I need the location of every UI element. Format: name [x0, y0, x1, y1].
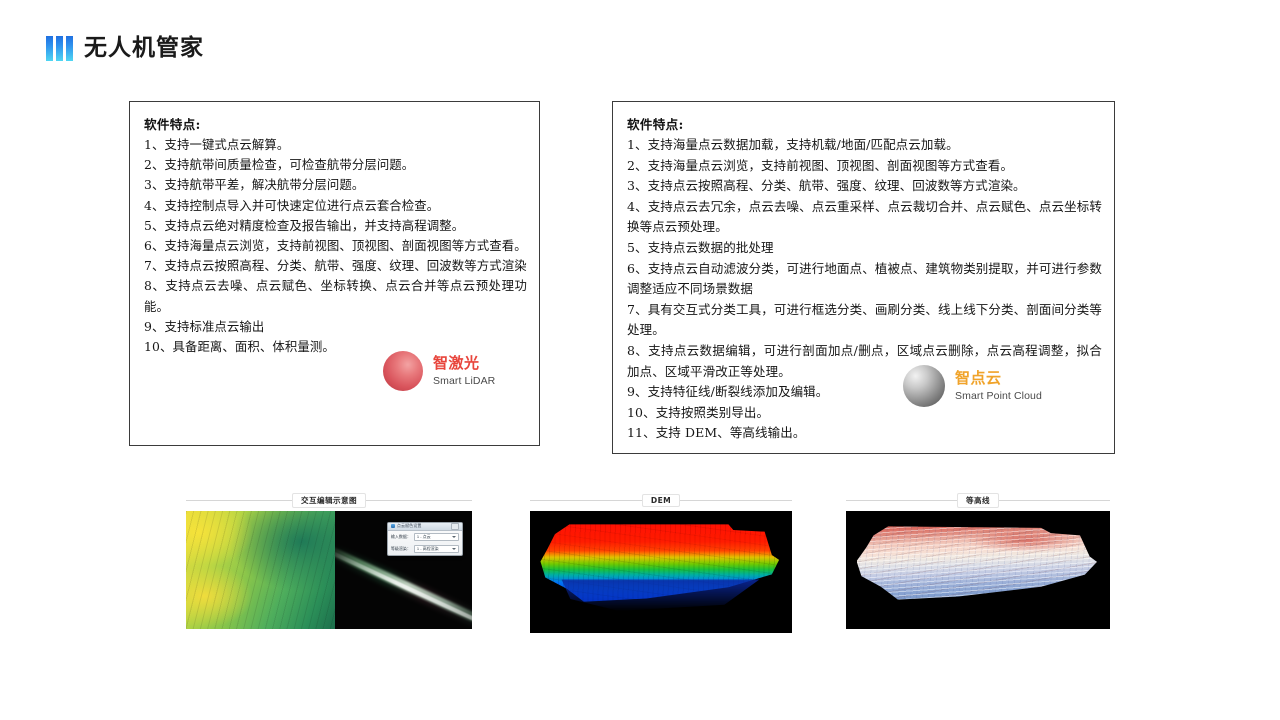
app-brand: 无人机管家	[46, 36, 204, 61]
caption-label: 等高线	[957, 493, 999, 508]
dialog-row: 输入数据： 1 - 点云	[388, 531, 462, 543]
dem-render	[530, 511, 792, 633]
dialog-title: 点云赋色设置	[397, 523, 449, 529]
figure-image	[846, 511, 1110, 629]
sublogo-smart-point-cloud: 智点云 Smart Point Cloud	[903, 365, 1042, 407]
panel-right-title: 软件特点:	[627, 114, 1102, 133]
figure-dem: DEM	[530, 492, 792, 633]
panel-left-feature-list: 1、支持一键式点云解算。 2、支持航带间质量检查，可检查航带分层问题。 3、支持…	[144, 135, 527, 357]
list-item: 6、支持点云自动滤波分类，可进行地面点、植被点、建筑物类别提取，并可进行参数调整…	[627, 259, 1102, 300]
sublogo-cn-label: 智点云	[955, 370, 1042, 387]
dialog-app-icon	[391, 524, 395, 528]
list-item: 11、支持 DEM、等高线输出。	[627, 423, 1102, 444]
figure-image	[530, 511, 792, 633]
figure-contour: 等高线	[846, 492, 1110, 629]
page-title: 无人机管家	[84, 37, 204, 60]
list-item: 2、支持航带间质量检查，可检查航带分层问题。	[144, 155, 527, 175]
list-item: 3、支持航带平差，解决航带分层问题。	[144, 175, 527, 195]
list-item: 5、支持点云绝对精度检查及报告输出，并支持高程调整。	[144, 216, 527, 236]
terrain-view	[186, 511, 335, 629]
caption-label: 交互编辑示意图	[292, 493, 366, 508]
figure-strip: 交互编辑示意图 点云赋色设置 输入数据： 1 - 点云	[0, 476, 1280, 626]
three-bars-gradient-icon	[46, 36, 73, 61]
list-item: 2、支持海量点云浏览，支持前视图、顶视图、剖面视图等方式查看。	[627, 156, 1102, 177]
contour-surface	[857, 526, 1100, 602]
sublogo-cn-label: 智激光	[433, 355, 495, 372]
caption-label: DEM	[642, 494, 680, 507]
dialog-title-bar: 点云赋色设置	[388, 523, 462, 531]
list-item: 4、支持点云去冗余，点云去噪、点云重采样、点云裁切合并、点云赋色、点云坐标转换等…	[627, 197, 1102, 238]
figure-caption: 等高线	[846, 492, 1110, 508]
list-item: 1、支持海量点云数据加载，支持机载/地面/匹配点云加载。	[627, 135, 1102, 156]
list-item: 3、支持点云按照高程、分类、航带、强度、纹理、回波数等方式渲染。	[627, 176, 1102, 197]
dialog-row: 等级渲染： 1 - 高程渲染	[388, 543, 462, 555]
red-sphere-icon	[383, 351, 423, 391]
dem-surface-shadow	[548, 579, 768, 611]
render-mode-label: 等级渲染：	[391, 546, 411, 552]
input-data-select[interactable]: 1 - 点云	[414, 533, 459, 541]
list-item: 7、具有交互式分类工具，可进行框选分类、画刷分类、线上线下分类、剖面间分类等处理…	[627, 300, 1102, 341]
list-item: 4、支持控制点导入并可快速定位进行点云套合检查。	[144, 196, 527, 216]
list-item: 6、支持海量点云浏览，支持前视图、顶视图、剖面视图等方式查看。	[144, 236, 527, 256]
input-data-label: 输入数据：	[391, 534, 411, 540]
sublogo-en-label: Smart Point Cloud	[955, 390, 1042, 402]
list-item: 7、支持点云按照高程、分类、航带、强度、纹理、回波数等方式渲染	[144, 256, 527, 276]
sublogo-en-label: Smart LiDAR	[433, 375, 495, 387]
sublogo-text: 智激光 Smart LiDAR	[433, 355, 495, 386]
list-item: 8、支持点云去噪、点云赋色、坐标转换、点云合并等点云预处理功能。	[144, 276, 527, 316]
figure-image: 点云赋色设置 输入数据： 1 - 点云 等级渲染： 1 - 高程渲染	[186, 511, 472, 629]
point-cloud-view: 点云赋色设置 输入数据： 1 - 点云 等级渲染： 1 - 高程渲染	[335, 511, 472, 629]
list-item: 9、支持标准点云输出	[144, 317, 527, 337]
list-item: 5、支持点云数据的批处理	[627, 238, 1102, 259]
list-item: 1、支持一键式点云解算。	[144, 135, 527, 155]
panel-left-title: 软件特点:	[144, 114, 527, 133]
close-icon[interactable]	[451, 523, 459, 530]
render-mode-value: 1 - 高程渲染	[417, 546, 439, 552]
figure-caption: 交互编辑示意图	[186, 492, 472, 508]
chevron-down-icon	[452, 536, 456, 538]
figure-caption: DEM	[530, 492, 792, 508]
figure-interactive-editing: 交互编辑示意图 点云赋色设置 输入数据： 1 - 点云	[186, 492, 472, 629]
sublogo-smart-lidar: 智激光 Smart LiDAR	[383, 351, 495, 391]
render-mode-select[interactable]: 1 - 高程渲染	[414, 545, 459, 553]
settings-dialog[interactable]: 点云赋色设置 输入数据： 1 - 点云 等级渲染： 1 - 高程渲染	[387, 522, 463, 556]
contour-render	[846, 511, 1110, 629]
chevron-down-icon	[452, 548, 456, 550]
feature-panel-left: 软件特点: 1、支持一键式点云解算。 2、支持航带间质量检查，可检查航带分层问题…	[129, 101, 540, 446]
input-data-value: 1 - 点云	[417, 534, 431, 540]
feature-panel-right: 软件特点: 1、支持海量点云数据加载，支持机载/地面/匹配点云加载。 2、支持海…	[612, 101, 1115, 454]
sublogo-text: 智点云 Smart Point Cloud	[955, 370, 1042, 401]
gray-sphere-icon	[903, 365, 945, 407]
